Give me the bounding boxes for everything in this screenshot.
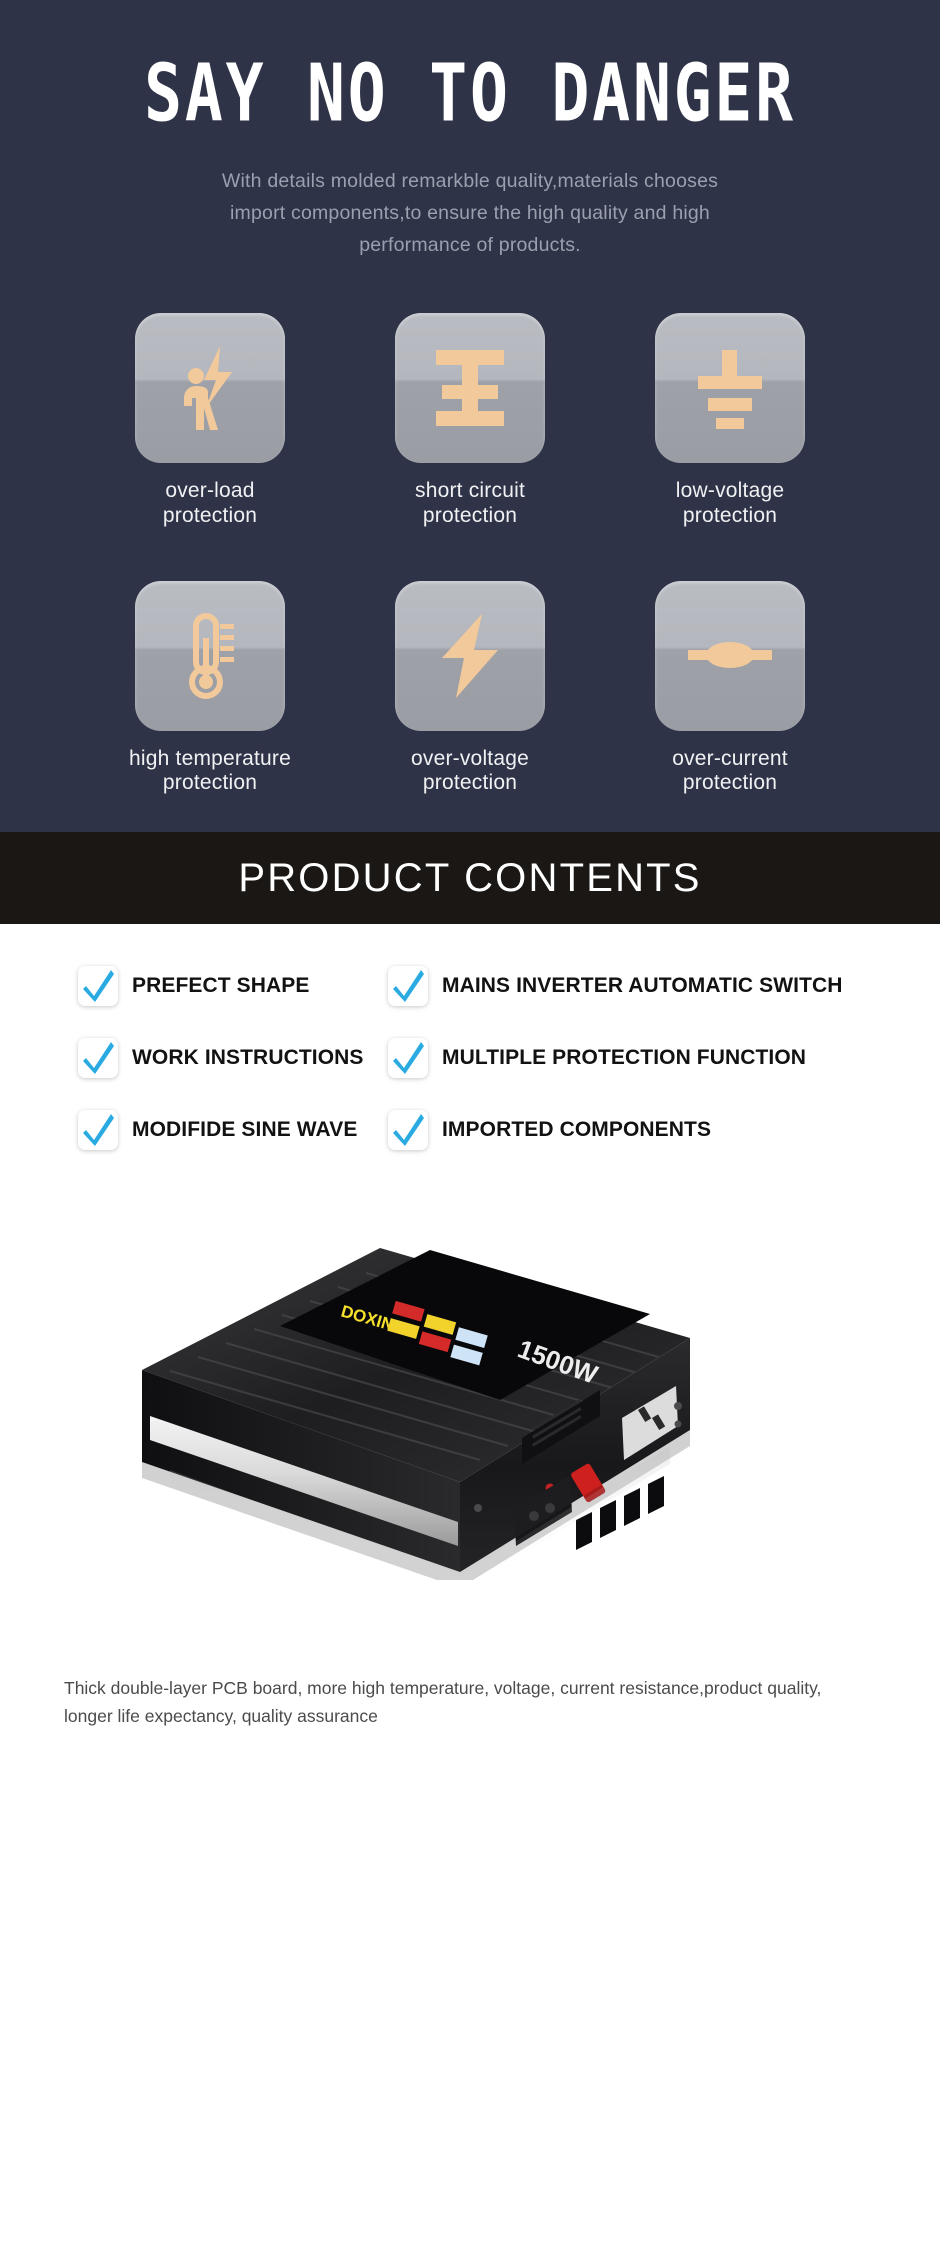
product-contents-section: PREFECT SHAPE MAINS INVERTER AUTOMATIC S… [0, 924, 940, 1174]
power-inverter-product-image: DOXIN 1500W [130, 1220, 830, 1580]
feature-icon-tile [395, 313, 545, 463]
feature-low-voltage-protection: low-voltage protection [600, 313, 860, 529]
list-item[interactable]: PREFECT SHAPE [30, 966, 378, 1006]
feature-icon-tile [135, 581, 285, 731]
list-item[interactable]: MULTIPLE PROTECTION FUNCTION [378, 1038, 910, 1078]
caption-line-1: Thick double-layer PCB board, more high … [64, 1674, 910, 1702]
checkbox-checked-icon[interactable] [388, 1038, 428, 1078]
checkbox-checked-icon[interactable] [78, 966, 118, 1006]
feature-label-line-1: over-voltage [411, 747, 529, 772]
panel-screw [474, 1504, 482, 1512]
list-item[interactable]: MAINS INVERTER AUTOMATIC SWITCH [378, 966, 910, 1006]
feature-icon-tile [135, 313, 285, 463]
page-title: SAY NO TO DANGER [28, 52, 912, 156]
hero-subtitle: With details molded remarkble quality,ma… [150, 166, 790, 261]
feature-label-line-1: short circuit [415, 479, 525, 504]
hero-subtitle-line-3: performance of products. [150, 230, 790, 262]
contents-checklist: PREFECT SHAPE MAINS INVERTER AUTOMATIC S… [30, 966, 910, 1150]
feature-label: short circuit protection [415, 479, 525, 529]
banner-title: PRODUCT CONTENTS [238, 856, 701, 901]
list-item-label: MULTIPLE PROTECTION FUNCTION [442, 1046, 806, 1070]
product-photo: DOXIN 1500W [70, 1184, 870, 1664]
feature-label: over-current protection [672, 747, 788, 797]
over-voltage-bolt-icon [422, 608, 518, 704]
checkbox-checked-icon[interactable] [78, 1038, 118, 1078]
feature-label-line-2: protection [163, 504, 257, 529]
list-item-label: MAINS INVERTER AUTOMATIC SWITCH [442, 974, 843, 998]
feature-label: over-voltage protection [411, 747, 529, 797]
danger-hero-section: SAY NO TO DANGER With details molded rem… [0, 0, 940, 832]
feature-over-voltage-protection: over-voltage protection [340, 581, 600, 797]
feature-label: over-load protection [163, 479, 257, 529]
feature-over-current-protection: over-current protection [600, 581, 860, 797]
feature-icon-tile [655, 581, 805, 731]
checkbox-checked-icon[interactable] [78, 1110, 118, 1150]
feature-label-line-2: protection [676, 504, 784, 529]
high-temperature-thermometer-icon [162, 608, 258, 704]
feature-label-line-1: high temperature [129, 747, 291, 772]
list-item[interactable]: IMPORTED COMPONENTS [378, 1110, 910, 1150]
list-item-label: IMPORTED COMPONENTS [442, 1118, 711, 1142]
feature-label-line-2: protection [415, 504, 525, 529]
feature-short-circuit-protection: short circuit protection [340, 313, 600, 529]
list-item[interactable]: MODIFIDE SINE WAVE [30, 1110, 378, 1150]
hero-subtitle-line-2: import components,to ensure the high qua… [150, 198, 790, 230]
list-item-label: WORK INSTRUCTIONS [132, 1046, 364, 1070]
feature-label-line-2: protection [129, 771, 291, 796]
feature-label-line-1: over-load [163, 479, 257, 504]
feature-icon-tile [655, 313, 805, 463]
list-item-label: PREFECT SHAPE [132, 974, 310, 998]
panel-screw [674, 1402, 682, 1410]
feature-high-temperature-protection: high temperature protection [80, 581, 340, 797]
list-item-label: MODIFIDE SINE WAVE [132, 1118, 357, 1142]
product-caption: Thick double-layer PCB board, more high … [30, 1674, 910, 1767]
feature-label-line-2: protection [411, 771, 529, 796]
protection-feature-grid: over-load protection short circuit pro [80, 313, 860, 796]
hero-subtitle-line-1: With details molded remarkble quality,ma… [150, 166, 790, 198]
product-photo-section: DOXIN 1500W [0, 1174, 940, 1767]
feature-label: low-voltage protection [676, 479, 784, 529]
feature-label-line-1: low-voltage [676, 479, 784, 504]
caption-line-2: longer life expectancy, quality assuranc… [64, 1702, 910, 1730]
product-detail-page: SAY NO TO DANGER With details molded rem… [0, 0, 940, 1767]
product-contents-banner: PRODUCT CONTENTS [0, 832, 940, 924]
feature-over-load-protection: over-load protection [80, 313, 340, 529]
low-voltage-ground-icon [682, 340, 778, 436]
checkbox-checked-icon[interactable] [388, 1110, 428, 1150]
feature-label-line-1: over-current [672, 747, 788, 772]
checkbox-checked-icon[interactable] [388, 966, 428, 1006]
over-current-fuse-icon [682, 608, 778, 704]
list-item[interactable]: WORK INSTRUCTIONS [30, 1038, 378, 1078]
overload-person-shock-icon [162, 340, 258, 436]
feature-icon-tile [395, 581, 545, 731]
panel-screw [675, 1421, 682, 1428]
feature-label-line-2: protection [672, 771, 788, 796]
feature-label: high temperature protection [129, 747, 291, 797]
short-circuit-i-beam-icon [422, 340, 518, 436]
